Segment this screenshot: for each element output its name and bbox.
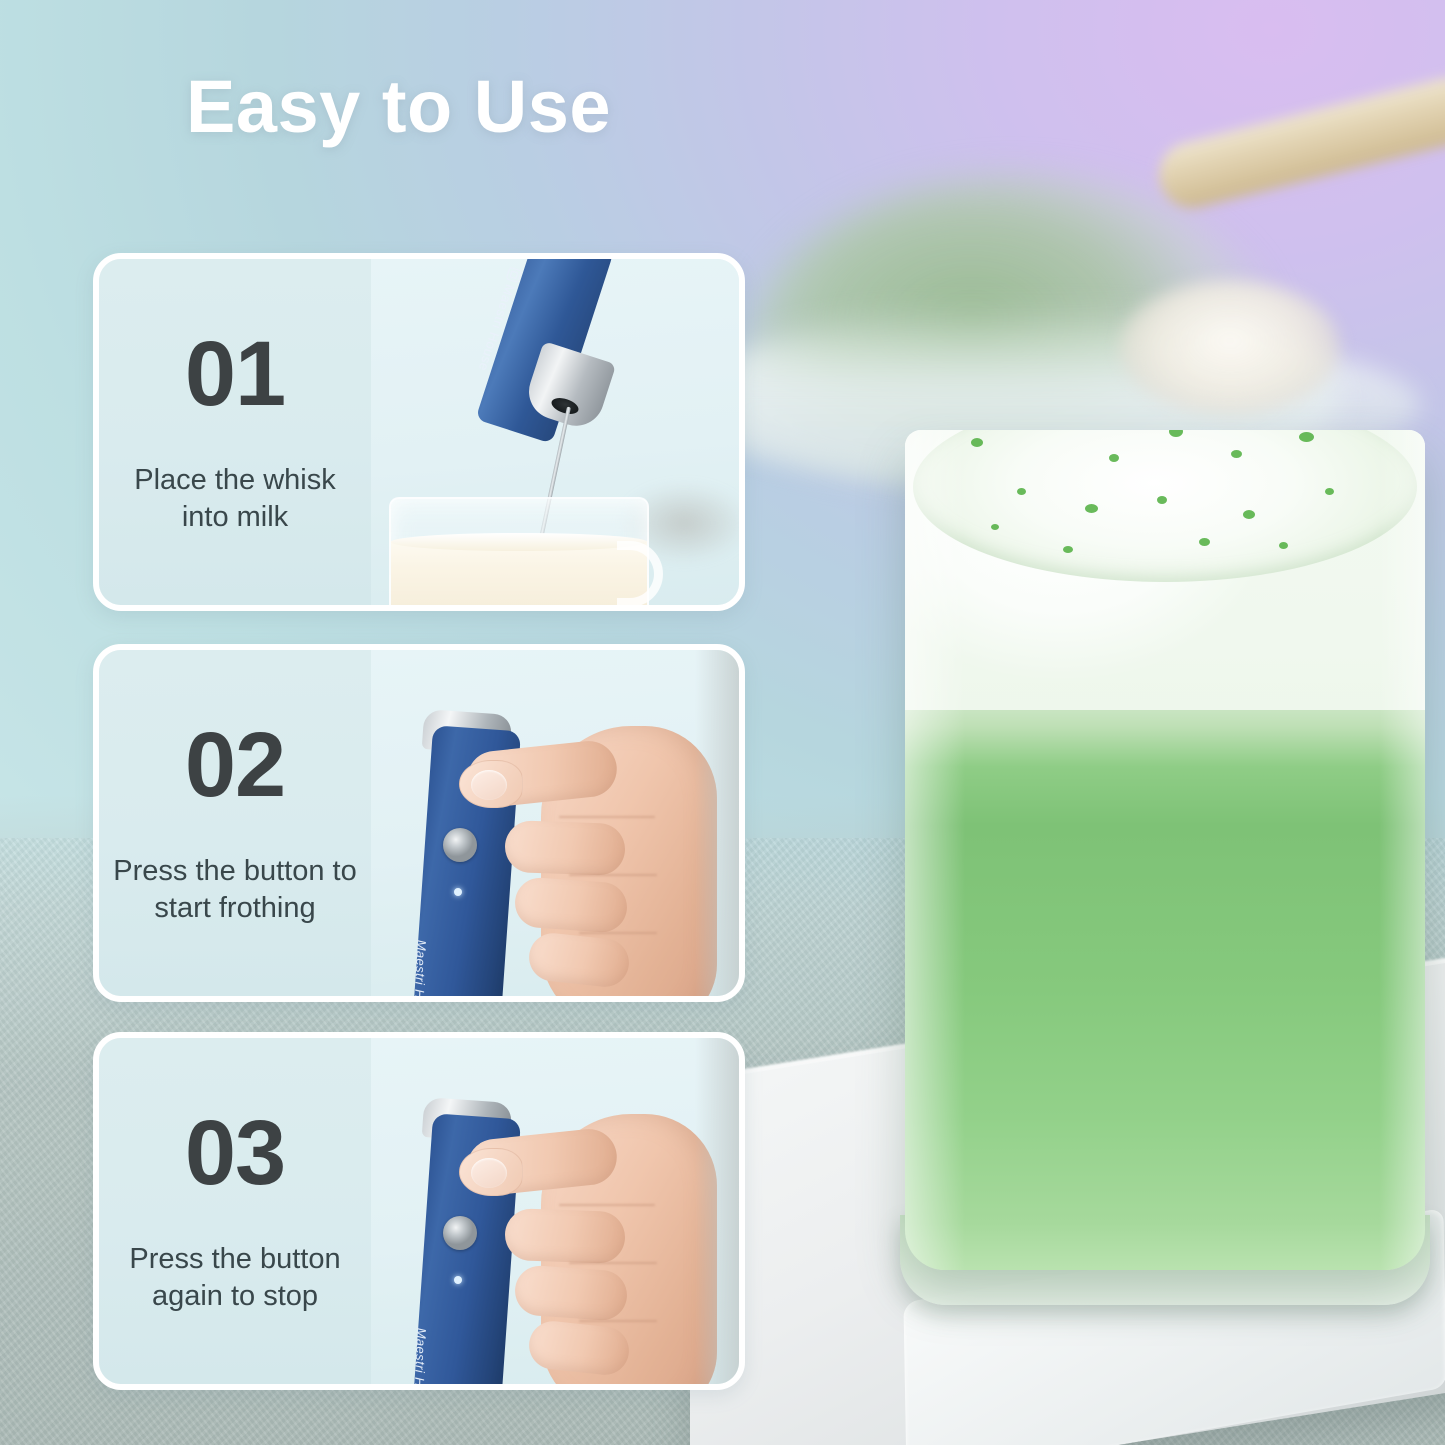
matcha-latte-glass <box>905 430 1425 1270</box>
glass-highlight-right <box>1379 430 1425 1270</box>
step-3-number: 03 <box>185 1107 285 1199</box>
step-3-photo: Maestri House <box>371 1038 739 1384</box>
brand-mark-icon <box>506 267 522 283</box>
middle-finger-2 <box>504 820 626 876</box>
brand-logo-text-2: Maestri House <box>411 939 429 996</box>
power-button-3 <box>443 1216 477 1250</box>
step-1-description: Place the whisk into milk <box>109 462 361 535</box>
ring-finger-3 <box>513 1264 628 1322</box>
brand-logo-text-3: Maestri House <box>411 1327 429 1384</box>
step-1-text-panel: 01 Place the whisk into milk <box>99 259 371 605</box>
step-3-description: Press the button again to stop <box>109 1241 361 1314</box>
step-2-description: Press the button to start frothing <box>109 853 361 926</box>
step-2-photo: Maestri House <box>371 650 739 996</box>
middle-finger-3 <box>504 1208 626 1264</box>
step-2-number: 02 <box>185 719 285 811</box>
matcha-liquid <box>905 685 1425 1270</box>
milk-surface <box>391 533 647 551</box>
step-1-photo: Maestri House <box>371 259 739 605</box>
milk-glass <box>389 497 649 605</box>
led-indicator-2 <box>454 888 462 896</box>
step-2-text-panel: 02 Press the button to start frothing <box>99 650 371 996</box>
step-2-photo-edge <box>695 650 739 996</box>
hand-2 <box>489 712 715 996</box>
led-indicator-3 <box>454 1276 462 1284</box>
wooden-spoon-bowl <box>1120 280 1340 415</box>
step-1-number: 01 <box>185 328 285 420</box>
thumb-nail-3 <box>471 1158 507 1188</box>
step-card-1: 01 Place the whisk into milk Maestri Hou… <box>93 253 745 611</box>
hand-3 <box>489 1100 715 1384</box>
ring-finger-2 <box>513 876 628 934</box>
power-button-2 <box>443 828 477 862</box>
step-card-2: 02 Press the button to start frothing Ma… <box>93 644 745 1002</box>
thumb-nail-2 <box>471 770 507 800</box>
step-3-photo-edge <box>695 1038 739 1384</box>
step-3-text-panel: 03 Press the button again to stop <box>99 1038 371 1384</box>
glass-highlight-left <box>905 430 965 1270</box>
step-card-3: 03 Press the button again to stop Maestr… <box>93 1032 745 1390</box>
page-title: Easy to Use <box>186 64 611 149</box>
